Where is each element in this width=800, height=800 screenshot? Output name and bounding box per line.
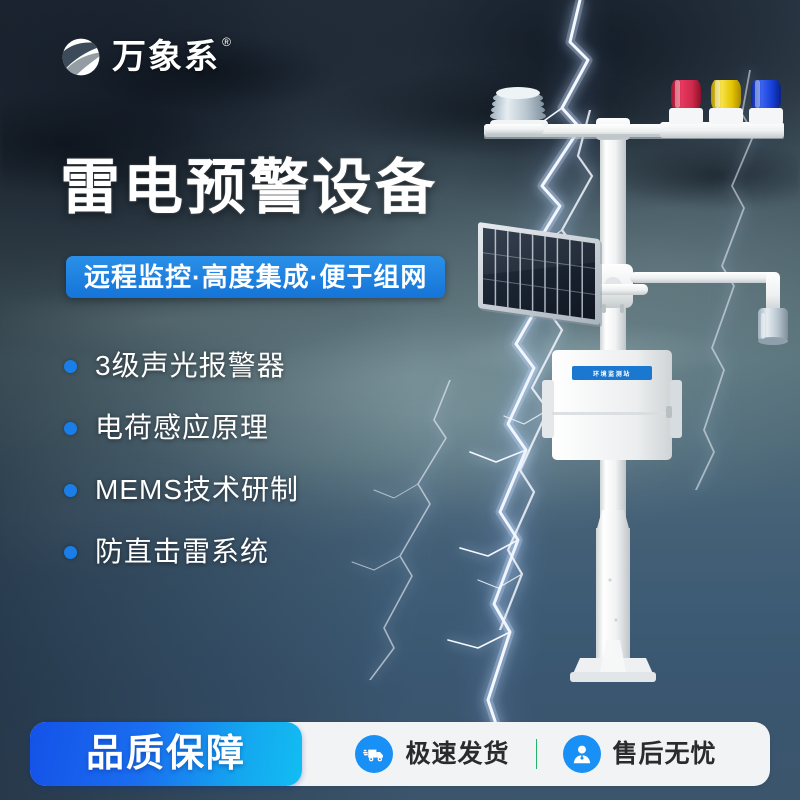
support-agent-icon bbox=[563, 735, 601, 773]
quality-guarantee-badge[interactable]: 品质保障 bbox=[30, 722, 302, 786]
bullet-dot-icon bbox=[64, 360, 77, 373]
feature-list: 3级声光报警器 电荷感应原理 MEMS技术研制 防直击雷系统 bbox=[64, 348, 299, 570]
subtitle-text: 远程监控·高度集成·便于组网 bbox=[84, 264, 427, 290]
trust-bar: 品质保障 极速发货 bbox=[30, 722, 770, 786]
list-item: 电荷感应原理 bbox=[64, 410, 299, 446]
bullet-dot-icon bbox=[64, 546, 77, 559]
registered-trademark-mark: ® bbox=[222, 36, 233, 48]
trust-item-label: 极速发货 bbox=[405, 742, 509, 767]
feature-label: 3级声光报警器 bbox=[95, 352, 286, 380]
swoosh-sphere-icon bbox=[60, 36, 102, 78]
list-item: MEMS技术研制 bbox=[64, 472, 299, 508]
brand-name-text: 万象系 bbox=[112, 38, 220, 76]
brand-logo: 万象系 ® bbox=[60, 36, 220, 78]
feature-label: MEMS技术研制 bbox=[95, 476, 299, 504]
page-title: 雷电预警设备 bbox=[60, 158, 438, 218]
list-item: 3级声光报警器 bbox=[64, 348, 299, 384]
trust-item-label: 售后无忧 bbox=[613, 742, 717, 767]
trust-items: 极速发货 售后无忧 bbox=[302, 735, 770, 773]
quality-guarantee-label: 品质保障 bbox=[86, 735, 246, 773]
bullet-dot-icon bbox=[64, 484, 77, 497]
trust-item-fast-shipping[interactable]: 极速发货 bbox=[355, 735, 509, 773]
list-item: 防直击雷系统 bbox=[64, 534, 299, 570]
trust-item-after-sales[interactable]: 售后无忧 bbox=[563, 735, 717, 773]
brand-name: 万象系 ® bbox=[112, 40, 220, 74]
delivery-truck-icon bbox=[355, 735, 393, 773]
product-poster: 万象系 ® 雷电预警设备 远程监控·高度集成·便于组网 3级声光报警器 电荷感应… bbox=[0, 0, 800, 800]
bullet-dot-icon bbox=[64, 422, 77, 435]
subtitle-badge: 远程监控·高度集成·便于组网 bbox=[66, 256, 445, 298]
feature-label: 电荷感应原理 bbox=[95, 414, 269, 442]
feature-label: 防直击雷系统 bbox=[95, 538, 269, 566]
trust-items-divider bbox=[536, 739, 537, 769]
